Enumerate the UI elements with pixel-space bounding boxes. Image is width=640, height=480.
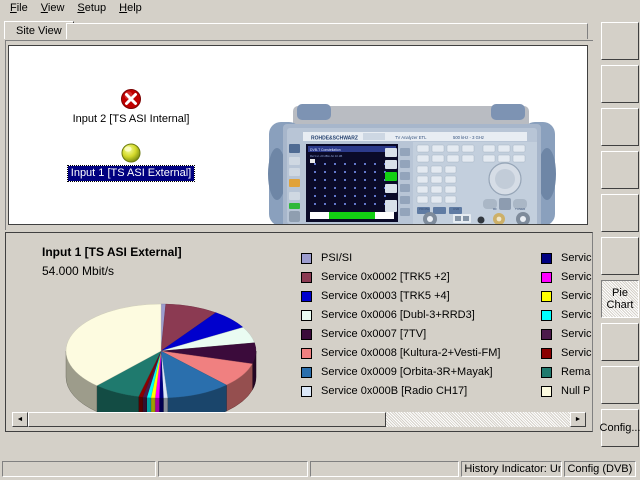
legend-label: Service 0x000B [Radio CH17] [321,382,467,401]
legend-label: Servic [561,344,592,363]
legend-swatch-icon [301,348,312,359]
site-node-input2[interactable]: Input 2 [TS ASI Internal] [61,88,201,127]
side-button-blank-8[interactable] [601,366,639,404]
legend-swatch-icon [301,367,312,378]
legend-swatch-icon [301,310,312,321]
chart-legend-column-2: ServicServicServicServicServicServicRema… [541,249,601,401]
svg-text:ROHDE&SCHWARZ: ROHDE&SCHWARZ [311,136,358,142]
legend-swatch-icon [541,386,552,397]
legend-item[interactable]: Service 0x0006 [Dubl-3+RRD3] [301,306,500,325]
side-button-label: Config... [600,422,640,434]
legend-swatch-icon [541,272,552,283]
chart-bitrate: 54.000 Mbit/s [42,264,114,278]
legend-swatch-icon [541,253,552,264]
legend-label: Service 0x0003 [TRK5 +4] [321,287,450,306]
scrollbar-track[interactable] [28,412,570,427]
tab-strip-filler [66,23,588,39]
side-button-column: Pie ChartConfig... [599,22,640,452]
legend-item[interactable]: Service 0x000B [Radio CH17] [301,382,500,401]
status-cell-1 [158,461,308,477]
side-button-config[interactable]: Config... [601,409,639,447]
svg-text:DVB-T Constellation: DVB-T Constellation [310,148,341,152]
legend-label: Null P [561,382,590,401]
legend-label: Service 0x0007 [7TV] [321,325,426,344]
legend-item[interactable]: Rema [541,363,601,382]
tab-site-view-label: Site View [16,25,62,37]
legend-label: Service 0x0009 [Orbita-3R+Mayak] [321,363,493,382]
legend-item[interactable]: Servic [541,325,601,344]
menu-item-file[interactable]: File [6,1,37,17]
status-cell-config: Config (DVB) [564,461,636,477]
chart-horizontal-scrollbar[interactable]: ◄ ► [12,412,586,427]
application-window: FileViewSetupHelp Site View Input 2 [TS … [0,0,640,480]
legend-swatch-icon [301,272,312,283]
error-icon [120,88,142,110]
site-node-input2-label: Input 2 [TS ASI Internal] [70,112,193,127]
legend-label: Servic [561,306,592,325]
menu-item-view[interactable]: View [37,1,74,17]
svg-text:500 kHz - 3 GHz: 500 kHz - 3 GHz [453,135,484,140]
site-node-input1-label: Input 1 [TS ASI External] [68,166,194,181]
legend-swatch-icon [541,329,552,340]
legend-label: Service 0x0008 [Kultura-2+Vesti-FM] [321,344,500,363]
legend-item[interactable]: Null P [541,382,601,401]
scroll-right-arrow-icon[interactable]: ► [570,412,586,427]
pie-chart[interactable] [36,289,286,414]
status-cell-2 [310,461,460,477]
side-button-blank-5[interactable] [601,237,639,275]
tab-strip: Site View [0,19,640,39]
legend-item[interactable]: Servic [541,268,601,287]
scroll-left-arrow-icon[interactable]: ◄ [12,412,28,427]
legend-label: Servic [561,325,592,344]
legend-item[interactable]: Service 0x0003 [TRK5 +4] [301,287,500,306]
legend-item[interactable]: Service 0x0007 [7TV] [301,325,500,344]
legend-swatch-icon [541,367,552,378]
status-cell-history: History Indicator: Unlimited [461,461,562,477]
menu-item-setup[interactable]: Setup [73,1,115,17]
svg-text:TV Analyzer ETL: TV Analyzer ETL [395,135,427,140]
side-button-blank-0[interactable] [601,22,639,60]
svg-text:TUNER: TUNER [515,207,526,211]
pie-top-faces [66,304,256,398]
menu-bar: FileViewSetupHelp [0,0,640,18]
legend-swatch-icon [301,329,312,340]
device-photo-spectrum-analyzer: ROHDE&SCHWARZ TV Analyzer ETL 500 kHz - … [267,104,557,225]
legend-item[interactable]: PSI/SI [301,249,500,268]
menu-item-help[interactable]: Help [115,1,151,17]
side-button-pie-chart[interactable]: Pie Chart [601,280,639,318]
site-node-input1[interactable]: Input 1 [TS ASI External] [61,142,201,181]
status-cell-0 [2,461,156,477]
side-button-blank-2[interactable] [601,108,639,146]
legend-label: Rema [561,363,590,382]
legend-item[interactable]: Servic [541,306,601,325]
legend-label: Service 0x0006 [Dubl-3+RRD3] [321,306,475,325]
legend-item[interactable]: Service 0x0008 [Kultura-2+Vesti-FM] [301,344,500,363]
legend-label: Servic [561,287,592,306]
legend-swatch-icon [541,291,552,302]
legend-label: Service 0x0002 [TRK5 +2] [321,268,450,287]
legend-swatch-icon [301,291,312,302]
tab-site-view[interactable]: Site View [4,21,74,39]
legend-swatch-icon [301,253,312,264]
legend-label: PSI/SI [321,249,352,268]
side-button-blank-7[interactable] [601,323,639,361]
status-ok-icon [120,142,142,164]
side-button-blank-4[interactable] [601,194,639,232]
status-bar: History Indicator: UnlimitedConfig (DVB) [0,458,640,480]
pie-chart-panel: Input 1 [TS ASI External] 54.000 Mbit/s … [5,232,593,432]
legend-label: Servic [561,268,592,287]
chart-legend-column-1: PSI/SIService 0x0002 [TRK5 +2]Service 0x… [301,249,500,401]
legend-swatch-icon [541,310,552,321]
legend-swatch-icon [301,386,312,397]
scrollbar-thumb[interactable] [28,412,386,427]
svg-text:Ref Lvl -20 dBm Att 10 dB: Ref Lvl -20 dBm Att 10 dB [310,154,342,158]
chart-title: Input 1 [TS ASI External] [42,245,182,259]
legend-item[interactable]: Servic [541,344,601,363]
legend-label: Servic [561,249,592,268]
site-view-canvas[interactable]: Input 2 [TS ASI Internal] Input [8,45,588,225]
legend-item[interactable]: Servic [541,287,601,306]
legend-item[interactable]: Servic [541,249,601,268]
legend-item[interactable]: Service 0x0002 [TRK5 +2] [301,268,500,287]
side-button-label: Pie Chart [602,287,638,311]
legend-item[interactable]: Service 0x0009 [Orbita-3R+Mayak] [301,363,500,382]
svg-text:PROBE: PROBE [419,207,430,211]
legend-swatch-icon [541,348,552,359]
svg-text:RF: RF [493,207,497,211]
side-button-blank-3[interactable] [601,151,639,189]
svg-text:USB: USB [453,207,459,211]
side-button-blank-1[interactable] [601,65,639,103]
